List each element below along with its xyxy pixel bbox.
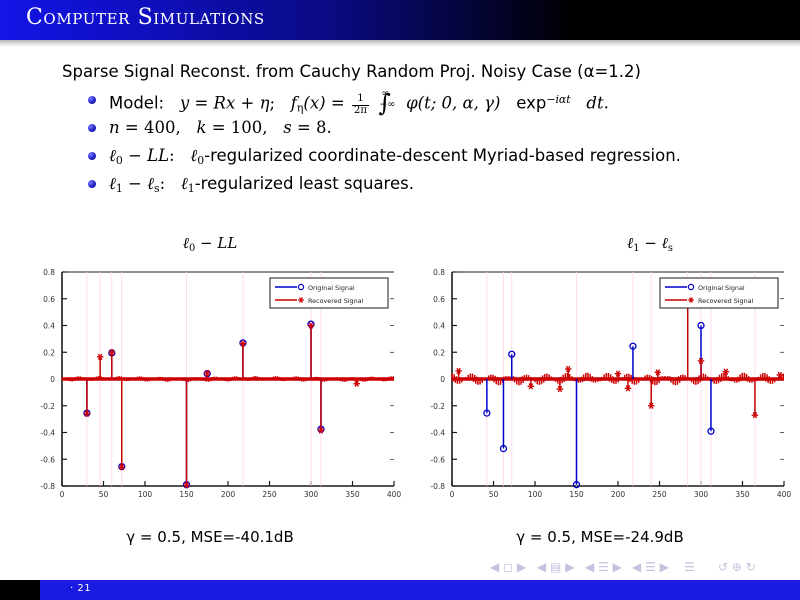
svg-text:0: 0 [60, 490, 65, 499]
l1ls-ell-sub: 1 [116, 182, 123, 195]
param-s-value: = 8. [297, 118, 332, 137]
svg-text:-0.2: -0.2 [430, 402, 445, 411]
nav-frame-icon[interactable]: ◀ ▤ ▶ [537, 560, 574, 574]
svg-text:350: 350 [345, 490, 360, 499]
bullet-ball-icon [88, 152, 96, 160]
footer-bar-accent [40, 580, 800, 600]
svg-text:300: 300 [694, 490, 709, 499]
nav-presentation-icon[interactable]: ☰ [684, 560, 695, 574]
svg-text:100: 100 [138, 490, 153, 499]
integral-icon: ∫∞−∞ [378, 96, 390, 110]
model-exp: exp [516, 93, 546, 112]
page-title: Computer Simulations [26, 5, 265, 30]
param-s: s [283, 118, 291, 137]
svg-text:400: 400 [387, 490, 402, 499]
model-frac-num: 1 [352, 94, 369, 106]
model-semicolon: ; [269, 93, 275, 112]
svg-text:100: 100 [528, 490, 543, 499]
page-number: · 21 [70, 583, 91, 594]
svg-text:-0.4: -0.4 [430, 429, 445, 438]
l1ls-desc-tail: -regularized least squares. [195, 174, 414, 193]
model-exp-exponent: −iαt [546, 93, 570, 106]
footer-bar: · 21 [0, 580, 800, 600]
figure-title-left: ℓ0 − LL [150, 234, 270, 254]
fig-right-dash: − [644, 234, 657, 252]
param-n: n [109, 118, 120, 137]
l1ls-dash: − [128, 174, 142, 193]
param-k-value: = 100, [212, 118, 268, 137]
model-phi-args: (t; 0, α, γ) [418, 93, 501, 112]
svg-text:0: 0 [450, 490, 455, 499]
l0ll-rhs: LL [147, 146, 169, 165]
svg-text:-0.2: -0.2 [40, 402, 55, 411]
svg-text:200: 200 [221, 490, 236, 499]
svg-text:0.8: 0.8 [43, 268, 55, 277]
svg-text:0: 0 [50, 375, 55, 384]
svg-text:150: 150 [179, 490, 194, 499]
plot-canvas-right: -0.8-0.6-0.4-0.200.20.40.60.805010015020… [412, 264, 792, 512]
section-heading: Sparse Signal Reconst. from Cauchy Rando… [62, 62, 641, 81]
fig-right-rhs-sub: s [668, 243, 673, 254]
svg-text:350: 350 [735, 490, 750, 499]
nav-section-icon[interactable]: ◀ ☰ ▶ [632, 560, 669, 574]
svg-text:-0.6: -0.6 [40, 455, 55, 464]
list-item-parameters: n = 400, k = 100, s = 8. [88, 116, 788, 144]
fig-left-ell-sub: 0 [189, 243, 195, 254]
fig-left-rhs: LL [217, 234, 237, 252]
model-eta: η [260, 93, 270, 112]
svg-text:Original Signal: Original Signal [698, 284, 745, 292]
model-dt: dt. [586, 93, 608, 112]
bullet-ball-icon [88, 124, 96, 132]
model-plus: + [241, 93, 255, 112]
plot-canvas-left: -0.8-0.6-0.4-0.200.20.40.60.805010015020… [22, 264, 402, 512]
nav-back-find-forward-icon[interactable]: ↺ ⊕ ↻ [718, 560, 756, 574]
svg-text:-0.6: -0.6 [430, 455, 445, 464]
model-eq2: = [331, 93, 345, 112]
svg-text:300: 300 [304, 490, 319, 499]
beamer-navigation-bar[interactable]: ◀ ◻ ▶ ◀ ▤ ▶ ◀ ☰ ▶ ◀ ☰ ▶ ☰ ↺ ⊕ ↻ [0, 558, 800, 580]
figure-caption-left: γ = 0.5, MSE=-40.1dB [60, 528, 360, 546]
svg-text:150: 150 [569, 490, 584, 499]
svg-text:-0.8: -0.8 [430, 482, 445, 491]
l1ls-desc-sub: 1 [188, 182, 195, 195]
nav-subsection-icon[interactable]: ◀ ☰ ▶ [585, 560, 622, 574]
l0ll-ell-sub: 0 [116, 154, 123, 167]
bullet-list: Model: y = Rx + η; fη(x) = 1 2π ∫∞−∞ φ(t… [88, 88, 788, 200]
figure-title-right: ℓ1 − ℓs [590, 234, 710, 254]
nav-slide-icon[interactable]: ◀ ◻ ▶ [490, 560, 526, 574]
svg-text:400: 400 [777, 490, 792, 499]
l1ls-rhs-ell: ℓ [147, 174, 154, 193]
model-f-arg: (x) [303, 93, 325, 112]
svg-text:0.2: 0.2 [43, 348, 55, 357]
integral-lower-limit: −∞ [379, 102, 395, 108]
list-item-parameters-text: n = 400, k = 100, s = 8. [109, 116, 332, 140]
svg-text:0.6: 0.6 [43, 295, 55, 304]
list-item-l1-ls-text: ℓ1 − ℓs: ℓ1-regularized least squares. [109, 172, 414, 201]
bullet-ball-icon [88, 96, 96, 104]
svg-text:-0.4: -0.4 [40, 429, 55, 438]
svg-text:200: 200 [611, 490, 626, 499]
model-frac-den: 2π [352, 106, 369, 117]
svg-text:0.6: 0.6 [433, 295, 445, 304]
list-item-model: Model: y = Rx + η; fη(x) = 1 2π ∫∞−∞ φ(t… [88, 88, 788, 116]
model-fraction: 1 2π [352, 94, 369, 117]
svg-text:Recovered Signal: Recovered Signal [308, 297, 364, 305]
svg-text:50: 50 [489, 490, 499, 499]
list-item-l0-ll: ℓ0 − LL: ℓ0-regularized coordinate-desce… [88, 144, 788, 172]
model-lead: Model: [109, 93, 164, 112]
l0ll-ell: ℓ [109, 146, 116, 165]
title-bar-shadow [0, 40, 800, 47]
svg-text:0.8: 0.8 [433, 268, 445, 277]
l0ll-colon: : [169, 146, 175, 165]
figure-area: ℓ0 − LL ℓ1 − ℓs -0.8-0.6-0.4-0.200.20.40… [0, 228, 800, 558]
list-item-l0-ll-text: ℓ0 − LL: ℓ0-regularized coordinate-desce… [109, 144, 681, 173]
bullet-ball-icon [88, 180, 96, 188]
list-item-l1-ls: ℓ1 − ℓs: ℓ1-regularized least squares. [88, 172, 788, 200]
model-rx: Rx [214, 93, 236, 112]
param-n-value: = 400, [125, 118, 181, 137]
l1ls-ell: ℓ [109, 174, 116, 193]
svg-text:250: 250 [652, 490, 667, 499]
fig-right-ell-sub: 1 [633, 243, 639, 254]
svg-text:Original Signal: Original Signal [308, 284, 355, 292]
plot-l1-ls[interactable]: -0.8-0.6-0.4-0.200.20.40.60.805010015020… [412, 264, 792, 512]
svg-text:0.2: 0.2 [433, 348, 445, 357]
model-phi: φ [406, 93, 418, 112]
svg-text:Recovered Signal: Recovered Signal [698, 297, 754, 305]
svg-text:0: 0 [440, 375, 445, 384]
model-y: y [180, 93, 189, 112]
svg-text:250: 250 [262, 490, 277, 499]
svg-text:0.4: 0.4 [433, 322, 445, 331]
integral-upper-limit: ∞ [381, 91, 389, 97]
l1ls-colon: : [160, 174, 166, 193]
svg-text:50: 50 [99, 490, 109, 499]
svg-text:0.4: 0.4 [43, 322, 55, 331]
l0ll-desc-tail: -regularized coordinate-descent Myriad-b… [204, 146, 681, 165]
l1ls-desc-ell: ℓ [181, 174, 188, 193]
param-k: k [196, 118, 206, 137]
model-eq1: = [194, 93, 208, 112]
figure-caption-right: γ = 0.5, MSE=-24.9dB [450, 528, 750, 546]
l0ll-dash: − [128, 146, 142, 165]
fig-left-dash: − [200, 234, 213, 252]
plot-l0-ll[interactable]: -0.8-0.6-0.4-0.200.20.40.60.805010015020… [22, 264, 402, 512]
svg-text:-0.8: -0.8 [40, 482, 55, 491]
